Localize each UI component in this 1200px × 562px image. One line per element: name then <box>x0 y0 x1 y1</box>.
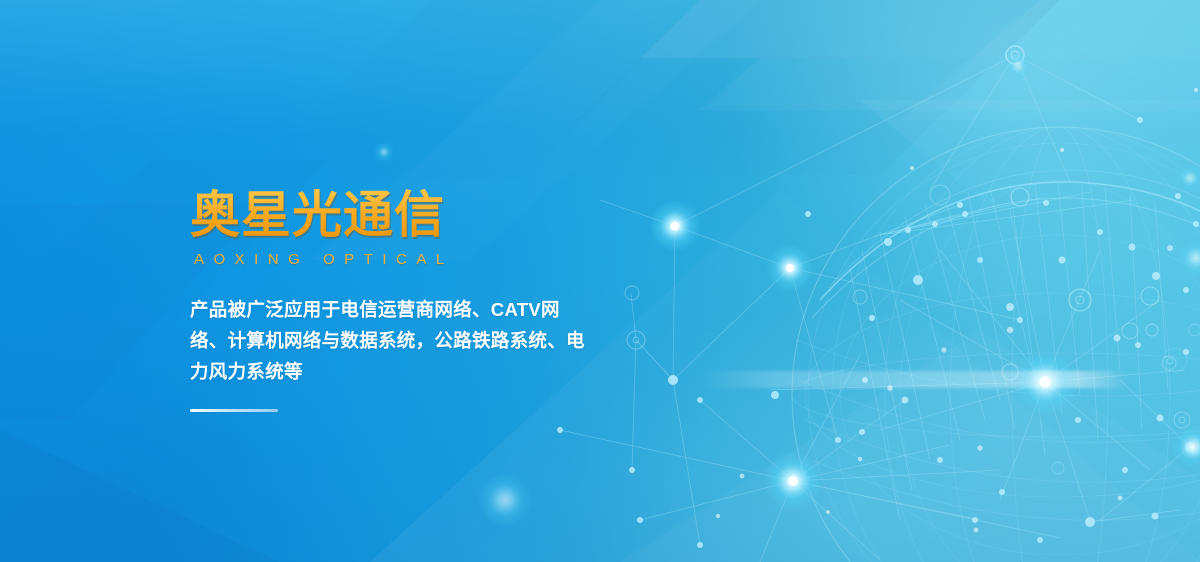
light-streak <box>700 371 1130 388</box>
banner-description: 产品被广泛应用于电信运营商网络、CATV网络、计算机网络与数据系统，公路铁路系统… <box>190 294 596 387</box>
banner-content: 奥星光通信 AOXING OPTICAL 产品被广泛应用于电信运营商网络、CAT… <box>190 186 630 412</box>
divider <box>190 409 278 412</box>
brand-title-cn: 奥星光通信 <box>190 186 630 244</box>
hero-banner: 奥星光通信 AOXING OPTICAL 产品被广泛应用于电信运营商网络、CAT… <box>0 0 1200 562</box>
brand-title-en: AOXING OPTICAL <box>194 250 630 270</box>
